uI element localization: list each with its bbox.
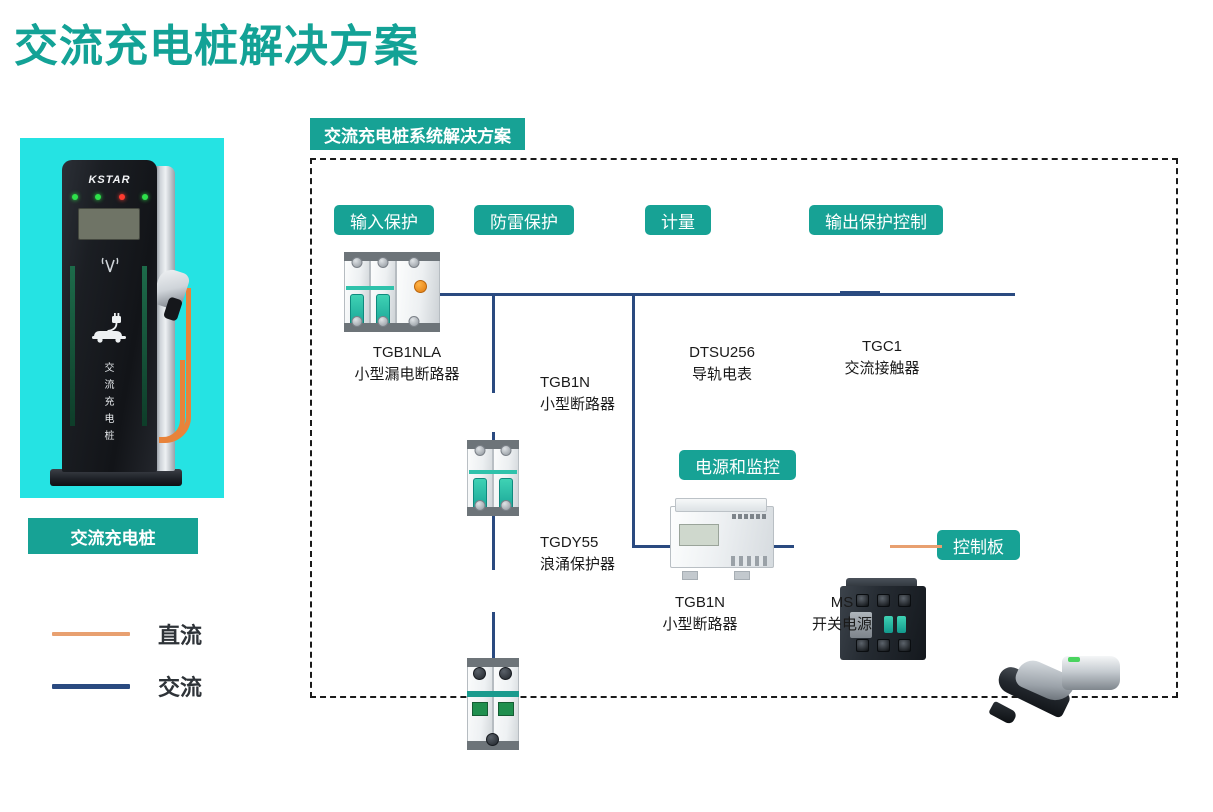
rcbo-test-button[interactable] (414, 280, 427, 293)
wire-ac-meter-to-contactor (840, 291, 880, 294)
chip-power-monitor: 电源和监控 (679, 450, 796, 480)
device-model-rcbo: TGB1NLA (332, 342, 482, 364)
device-label-psu: MS 开关电源 (787, 592, 897, 636)
spd-ground-terminal (486, 733, 499, 746)
chip-surge-protection: 防雷保护 (474, 205, 574, 235)
wire-ac-main-bus (420, 293, 1015, 296)
pile-vtext-char: 充 (62, 394, 157, 411)
spd-cap-2 (499, 667, 512, 680)
wire-dc-psu-to-control-board (890, 545, 942, 548)
legend: 直流 交流 (52, 608, 202, 712)
ev-charging-car-icon (62, 313, 157, 349)
rcbo-terminal-bot-2 (378, 316, 389, 327)
legend-label-ac: 交流 (158, 670, 202, 702)
contactor-terminal-row-bottom (856, 639, 911, 652)
device-label-rcbo: TGB1NLA 小型漏电断路器 (332, 342, 482, 386)
charging-cable-loop (159, 360, 185, 442)
charging-pile-illustration: KSTAR (20, 138, 224, 498)
contactor-terminal (877, 639, 890, 652)
rfid-wave-icon (62, 256, 157, 277)
pile-led-row (72, 194, 148, 200)
contactor-terminal (898, 639, 911, 652)
meter-keypad[interactable] (731, 556, 767, 566)
device-desc-mcb-bottom: 小型断路器 (635, 614, 765, 636)
device-label-mcb-top: TGB1N 小型断路器 (540, 372, 615, 416)
meter-din-clip-1 (682, 571, 698, 580)
legend-item-ac: 交流 (52, 660, 202, 712)
mcb-top-terminal-1 (475, 445, 486, 456)
device-model-mcb-top: TGB1N (540, 372, 615, 394)
device-spd-tgdy55 (467, 658, 519, 750)
meter-led (744, 514, 748, 519)
product-caption: 交流充电桩 (28, 518, 198, 554)
spd-status-window-1 (472, 702, 488, 716)
chip-input-protection: 输入保护 (334, 205, 434, 235)
device-desc-spd: 浪涌保护器 (540, 554, 615, 576)
pile-vtext-char: 流 (62, 377, 157, 394)
rcbo-terminal-top-3 (409, 257, 420, 268)
meter-din-clip-2 (734, 571, 750, 580)
rcbo-teal-band (346, 286, 394, 290)
device-meter-dtsu256 (670, 498, 774, 580)
status-led-green-2 (95, 194, 101, 200)
gun-connector-tip (988, 701, 1018, 726)
legend-line-ac (52, 684, 130, 689)
pile-display-screen (78, 208, 140, 240)
device-desc-mcb-top: 小型断路器 (540, 394, 615, 416)
contactor-teal-accent-2 (897, 616, 906, 633)
wire-ac-branch-down (632, 293, 635, 547)
mcb-top-terminal-4 (501, 500, 512, 511)
status-led-green-1 (72, 194, 78, 200)
ev-charging-gun (990, 654, 1120, 736)
mcb-top-terminal-2 (501, 445, 512, 456)
device-model-contactor: TGC1 (817, 336, 947, 358)
meter-led (762, 514, 766, 519)
pile-vtext-char: 电 (62, 411, 157, 428)
legend-label-dc: 直流 (158, 618, 202, 650)
diagram-canvas: 输入保护 防雷保护 计量 输出保护控制 电源和监控 控制板 (310, 158, 1178, 698)
wire-ac-to-mcb-top (492, 293, 495, 393)
pile-brand-label: KSTAR (62, 174, 157, 186)
pile-vtext-char: 交 (62, 360, 157, 377)
page-title: 交流充电桩解决方案 (14, 22, 419, 73)
spd-cap-1 (473, 667, 486, 680)
device-label-mcb-bottom: TGB1N 小型断路器 (635, 592, 765, 636)
device-label-meter: DTSU256 导轨电表 (657, 342, 787, 386)
device-desc-psu: 开关电源 (787, 614, 897, 636)
rcbo-terminal-bot-1 (352, 316, 363, 327)
meter-led (756, 514, 760, 519)
mcb-top-terminal-3 (475, 500, 486, 511)
legend-item-dc: 直流 (52, 608, 202, 660)
rcbo-terminal-top-2 (378, 257, 389, 268)
meter-top-cover (675, 498, 767, 512)
gun-status-led (1068, 657, 1080, 662)
device-rcbo-tgb1nla (344, 252, 440, 332)
device-label-spd: TGDY55 浪涌保护器 (540, 532, 615, 576)
pile-vertical-text: 交 流 充 电 桩 (62, 360, 157, 445)
device-model-spd: TGDY55 (540, 532, 615, 554)
device-model-meter: DTSU256 (657, 342, 787, 364)
chip-output-control: 输出保护控制 (809, 205, 943, 235)
device-desc-contactor: 交流接触器 (817, 358, 947, 380)
device-mcb-top-tgb1n (467, 440, 519, 516)
product-photo: KSTAR (20, 138, 224, 498)
diagram-title-badge: 交流充电桩系统解决方案 (310, 118, 525, 150)
spd-brand-strip (467, 691, 519, 697)
device-model-mcb-bottom: TGB1N (635, 592, 765, 614)
device-desc-meter: 导轨电表 (657, 364, 787, 386)
device-label-contactor: TGC1 交流接触器 (817, 336, 947, 380)
rcbo-terminal-top-1 (352, 257, 363, 268)
page-root: 交流充电桩解决方案 KSTAR (0, 0, 1213, 812)
meter-led (738, 514, 742, 519)
contactor-terminal (898, 594, 911, 607)
device-desc-rcbo: 小型漏电断路器 (332, 364, 482, 386)
meter-led (750, 514, 754, 519)
meter-lcd-display (679, 524, 719, 546)
contactor-terminal (856, 639, 869, 652)
rcbo-terminal-bot-3 (409, 316, 420, 327)
status-led-red (119, 194, 125, 200)
spd-status-window-2 (498, 702, 514, 716)
meter-led (732, 514, 736, 519)
device-model-psu: MS (787, 592, 897, 614)
legend-line-dc (52, 632, 130, 636)
chip-metering: 计量 (645, 205, 711, 235)
chip-control-board: 控制板 (937, 530, 1020, 560)
mcb-top-teal-band (469, 470, 517, 474)
pile-vtext-char: 桩 (62, 428, 157, 445)
spd-top-shroud (467, 658, 519, 667)
status-led-green-3 (142, 194, 148, 200)
meter-led-row (732, 514, 766, 519)
